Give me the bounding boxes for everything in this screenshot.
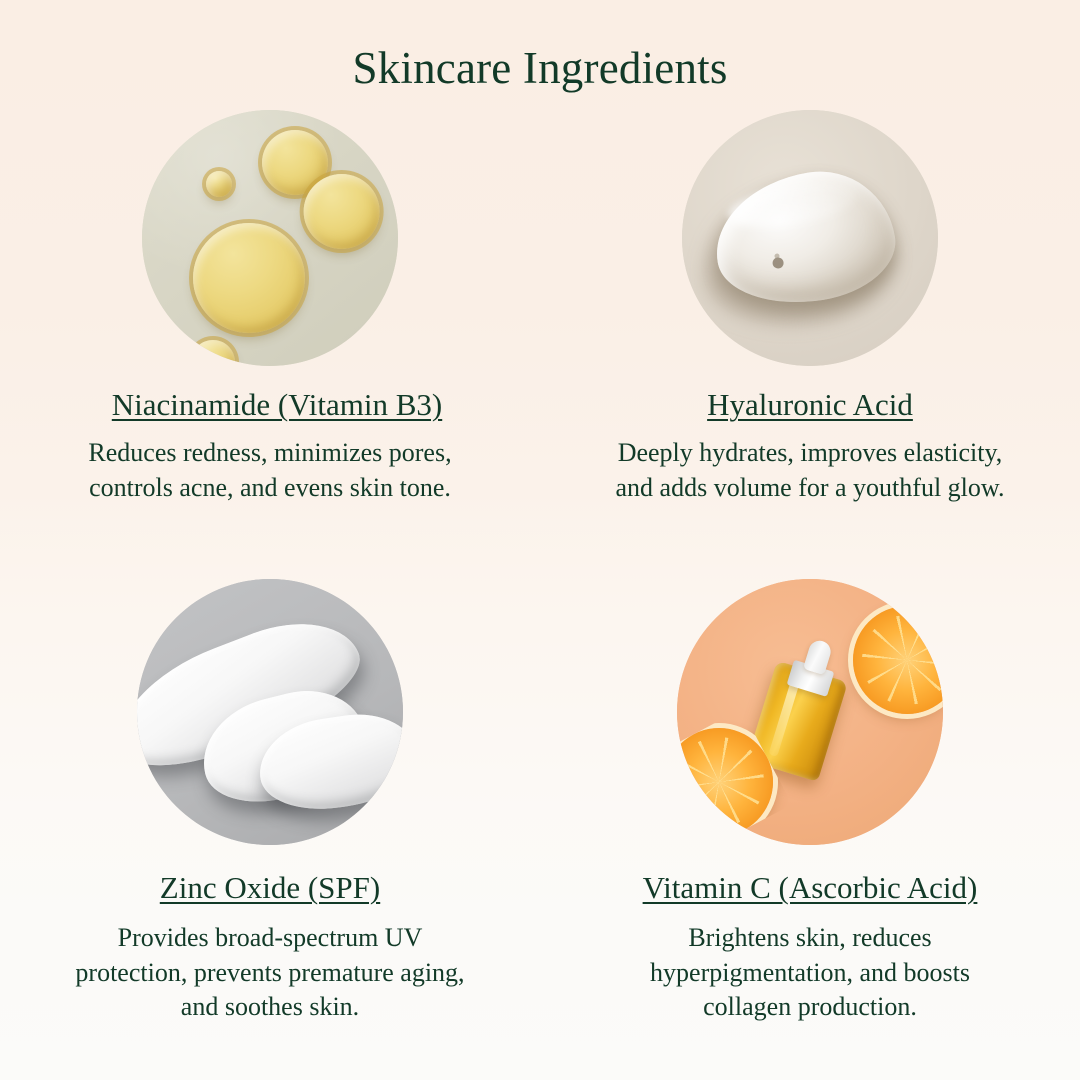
page-title: Skincare Ingredients	[0, 0, 1080, 91]
cream-swatches-photo	[137, 579, 403, 845]
ingredient-card-vitamin-c: Vitamin C (Ascorbic Acid) Brightens skin…	[540, 594, 1080, 1080]
ingredient-card-niacinamide: Niacinamide (Vitamin B3) Reduces redness…	[0, 108, 540, 594]
serum-bottle-orange-photo	[677, 579, 943, 845]
ingredient-description: Deeply hydrates, improves elasticity, an…	[600, 436, 1020, 505]
gel-droplet-photo	[682, 110, 938, 366]
oil-droplet-large-icon	[193, 223, 305, 333]
ingredient-heading: Vitamin C (Ascorbic Acid)	[643, 871, 978, 905]
ingredient-heading: Zinc Oxide (SPF)	[160, 871, 380, 905]
oil-droplet-small-icon	[206, 171, 232, 197]
ingredient-card-hyaluronic-acid: Hyaluronic Acid Deeply hydrates, improve…	[540, 108, 1080, 594]
orange-segments	[848, 601, 943, 719]
oil-droplet-bottom-icon	[191, 340, 235, 366]
gel-bubble-icon	[772, 257, 785, 270]
serum-bottle-photo-wrap	[677, 579, 943, 845]
ingredient-description: Brightens skin, reduces hyperpigmentatio…	[610, 921, 1010, 1025]
ingredient-description: Reduces redness, minimizes pores, contro…	[70, 436, 470, 505]
ingredient-description: Provides broad-spectrum UV protection, p…	[60, 921, 480, 1025]
dropper-cap-icon	[803, 638, 833, 675]
oil-droplets-photo-wrap	[142, 110, 398, 366]
ingredient-card-zinc-oxide: Zinc Oxide (SPF) Provides broad-spectrum…	[0, 594, 540, 1080]
oil-droplets-photo	[142, 110, 398, 366]
cream-swatches-photo-wrap	[137, 579, 403, 845]
gel-droplet-photo-wrap	[682, 110, 938, 366]
ingredient-card-grid: Niacinamide (Vitamin B3) Reduces redness…	[0, 108, 1080, 1080]
ingredient-heading: Niacinamide (Vitamin B3)	[112, 388, 442, 422]
oil-droplet-right-icon	[304, 174, 380, 249]
ingredient-heading: Hyaluronic Acid	[707, 388, 913, 422]
